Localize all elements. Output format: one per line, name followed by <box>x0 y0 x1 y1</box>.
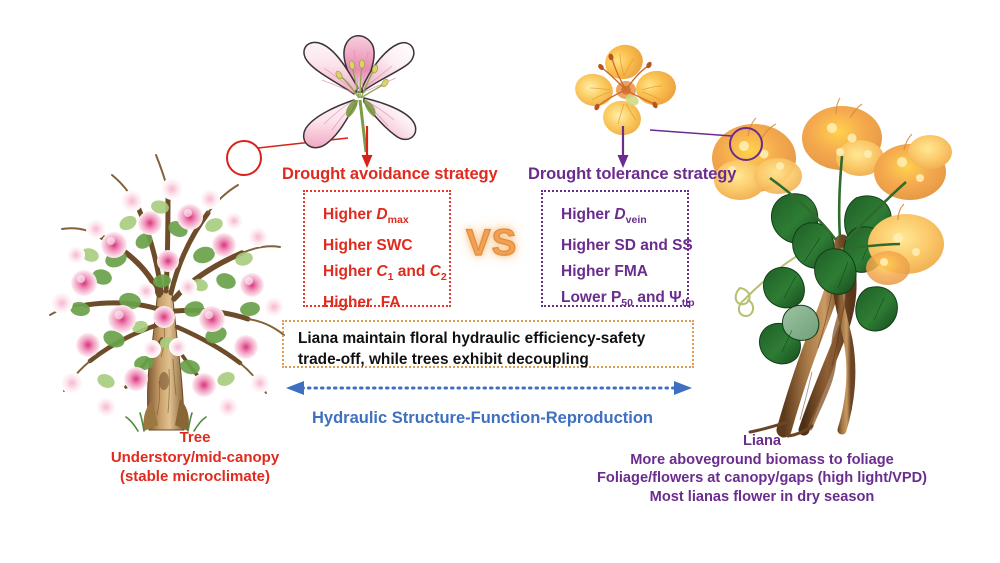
trait-item: Higher FA <box>323 290 433 316</box>
liana-caption-title: Liana <box>592 432 932 451</box>
liana-flower-to-heading-arrow <box>608 126 638 170</box>
trait-item: Higher Dvein <box>561 202 671 233</box>
tree-caption-title: Tree <box>55 428 335 448</box>
trait-item: Higher FMA <box>561 259 671 285</box>
liana-caption-line2: More aboveground biomass to foliage <box>592 451 932 470</box>
key-finding-box: Liana maintain floral hydraulic efficien… <box>282 320 694 368</box>
drought-avoidance-heading: Drought avoidance strategy <box>282 165 498 184</box>
trait-item: Higher SD and SS <box>561 233 671 259</box>
tree-caption-line2: Understory/mid-canopy <box>55 448 335 468</box>
liana-caption: Liana More aboveground biomass to foliag… <box>592 432 932 506</box>
liana-traits-box: Higher Dvein Higher SD and SS Higher FMA… <box>541 190 689 307</box>
liana-caption-line3: Foliage/flowers at canopy/gaps (high lig… <box>592 469 932 488</box>
hydraulic-axis-arrow <box>284 378 694 398</box>
figure-canvas: Drought avoidance strategy Higher Dmax H… <box>0 0 1000 563</box>
tree-traits-box: Higher Dmax Higher SWC Higher C1 and C2 … <box>303 190 451 307</box>
key-finding-line-1: Liana maintain floral hydraulic efficien… <box>298 329 680 350</box>
tree-caption: Tree Understory/mid-canopy (stable micro… <box>55 428 335 487</box>
trait-item: Higher SWC <box>323 233 433 259</box>
drought-tolerance-heading: Drought tolerance strategy <box>528 165 736 184</box>
trait-item: Higher Dmax <box>323 202 433 233</box>
key-finding-line-2: trade-off, while trees exhibit decouplin… <box>298 350 680 371</box>
tree-flower-to-heading-arrow <box>352 126 382 170</box>
hydraulic-axis-label: Hydraulic Structure-Function-Reproductio… <box>312 409 653 428</box>
trait-item: Higher C1 and C2 <box>323 259 433 290</box>
versus-label: VS <box>466 222 517 264</box>
liana-caption-line4: Most lianas flower in dry season <box>592 488 932 507</box>
tree-caption-line3: (stable microclimate) <box>55 467 335 487</box>
trait-item: Lower P50 and Ψtlp <box>561 285 671 316</box>
